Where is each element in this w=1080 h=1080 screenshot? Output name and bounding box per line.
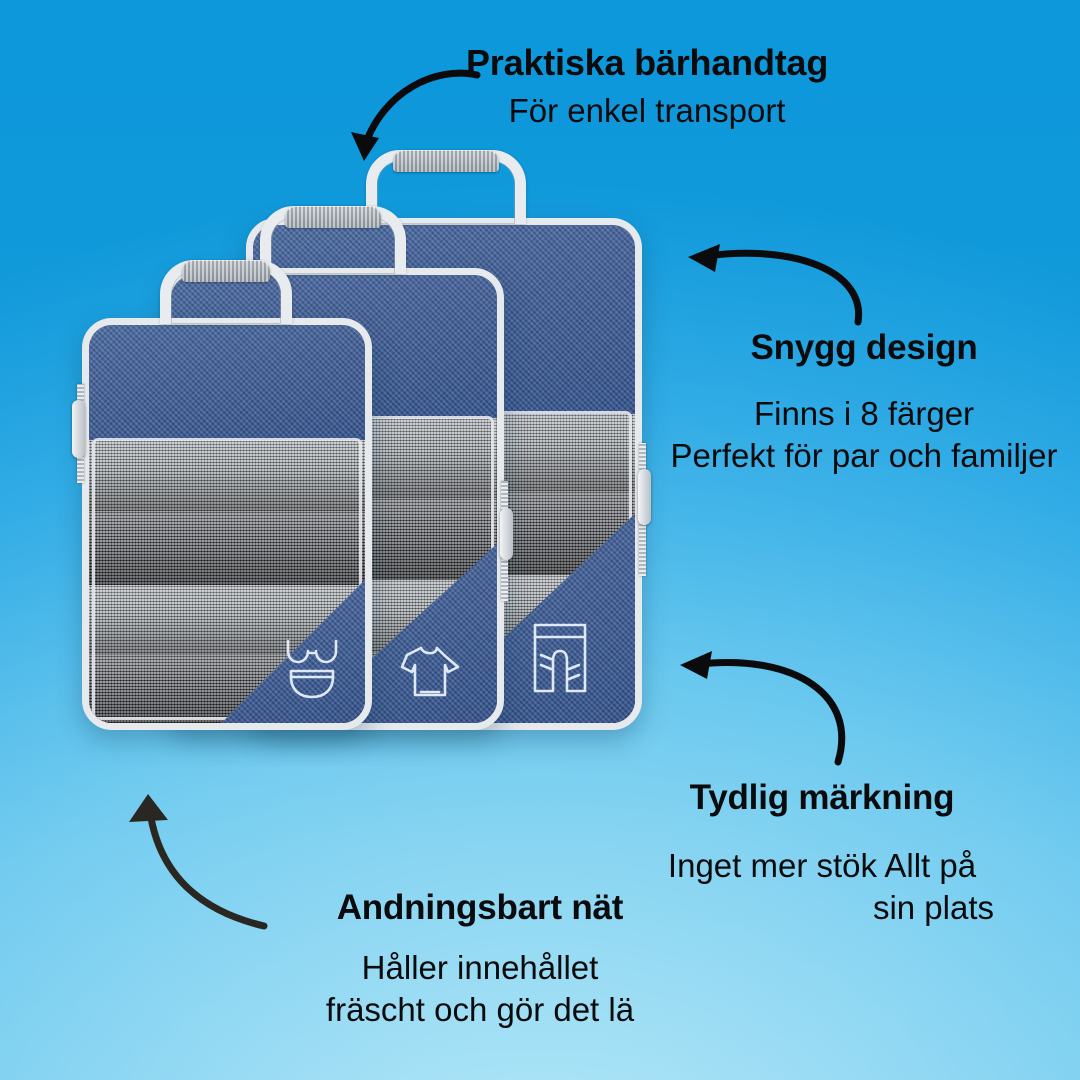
zipper-pull	[638, 469, 651, 525]
callout-design: Snygg design Finns i 8 färger Perfekt fö…	[664, 330, 1064, 477]
callout-handles: Praktiska bärhandtag För enkel transport	[466, 44, 828, 132]
callout-mesh-body: Håller innehållet fräscht och gör det lä	[270, 947, 690, 1031]
handle-grip	[285, 206, 381, 228]
callout-mesh: Andningsbart nät Håller innehållet fräsc…	[270, 890, 690, 1031]
zipper-pull	[72, 400, 85, 458]
packing-cube-small	[82, 318, 372, 730]
callout-line: För enkel transport	[466, 90, 828, 132]
callout-line: Perfekt för par och familjer	[664, 435, 1064, 477]
cube-body	[82, 318, 372, 730]
promo-canvas: Praktiska bärhandtag För enkel transport…	[0, 0, 1080, 1080]
curved-arrow-down-left	[325, 48, 485, 173]
callout-line: Finns i 8 färger	[664, 393, 1064, 435]
carry-handle-small	[160, 260, 292, 324]
top-fabric-panel	[89, 325, 365, 440]
mesh-band	[89, 511, 365, 584]
callout-handles-title: Praktiska bärhandtag	[466, 44, 828, 82]
underwear-icon	[283, 637, 341, 701]
tshirt-icon	[399, 643, 461, 701]
callout-line: Inget mer stök Allt på	[612, 845, 1032, 887]
handle-grip	[182, 260, 269, 282]
callout-line: Håller innehållet	[270, 947, 690, 989]
mesh-band	[89, 440, 365, 511]
callout-design-body: Finns i 8 färger Perfekt för par och fam…	[664, 393, 1064, 477]
callout-line: fräscht och gör det lä	[270, 989, 690, 1031]
callout-mesh-title: Andningsbart nät	[270, 890, 690, 927]
callout-handles-body: För enkel transport	[466, 90, 828, 132]
zipper-pull	[500, 508, 513, 560]
curved-arrow-left-labels	[656, 636, 876, 776]
curved-arrow-up-left-mesh	[112, 786, 302, 946]
pants-icon	[529, 621, 591, 695]
curved-arrow-left-design	[666, 232, 886, 342]
callout-labels-title: Tydlig märkning	[612, 780, 1032, 817]
